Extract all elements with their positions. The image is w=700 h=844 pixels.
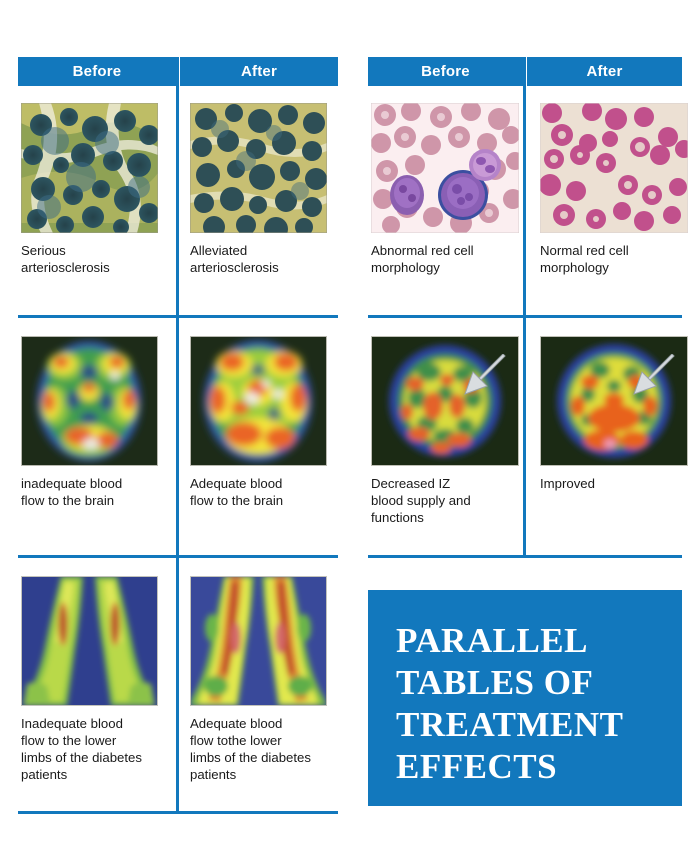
left-r2-before-caption: inadequate blood flow to the brain: [21, 475, 166, 509]
right-r1-before-caption: Abnormal red cell morphology: [371, 242, 516, 276]
left-r3-before-cell: Inadequate blood flow to the lower limbs…: [18, 576, 169, 783]
title-block: PARALLEL TABLES OF TREATMENT EFFECTS: [368, 590, 682, 806]
right-table-rule-1: [368, 315, 682, 318]
left-r2-before-cell: inadequate blood flow to the brain: [18, 336, 169, 509]
arteriosclerosis-histology-before-image: [21, 103, 158, 233]
leg-thermography-after-image: [190, 576, 327, 706]
left-table-row-2: inadequate blood flow to the brain: [18, 336, 338, 509]
right-table-row-2: Decreased IZ blood supply and functions: [368, 336, 682, 526]
spect-scan-improved-wrapper: [540, 336, 688, 466]
right-header-before: Before: [368, 57, 523, 86]
left-r1-after-caption: Alleviated arteriosclerosis: [190, 242, 335, 276]
left-table-row-1: Serious arteriosclerosis: [18, 103, 338, 276]
annotation-arrow-icon: [461, 354, 507, 398]
right-header-after: After: [527, 57, 682, 86]
left-r1-before-caption: Serious arteriosclerosis: [21, 242, 166, 276]
left-r2-after-caption: Adequate blood flow to the brain: [190, 475, 335, 509]
left-table-rule-1: [18, 315, 338, 318]
brain-perfusion-scan-after-image: [190, 336, 327, 466]
brain-perfusion-scan-before-image: [21, 336, 158, 466]
blood-smear-normal-image: [540, 103, 688, 233]
left-comparison-table: Before After: [18, 0, 338, 844]
left-table-rule-3: [18, 811, 338, 814]
arteriosclerosis-histology-after-image: [190, 103, 327, 233]
poster-title: PARALLEL TABLES OF TREATMENT EFFECTS: [396, 620, 682, 788]
right-r2-after-cell: Improved: [519, 336, 688, 526]
right-r1-before-cell: Abnormal red cell morphology: [368, 103, 519, 276]
right-r2-before-cell: Decreased IZ blood supply and functions: [368, 336, 519, 526]
left-r3-after-cell: Adequate blood flow tothe lower limbs of…: [169, 576, 338, 783]
left-r2-after-cell: Adequate blood flow to the brain: [169, 336, 338, 509]
right-table-rule-2: [368, 555, 682, 558]
left-r1-before-cell: Serious arteriosclerosis: [18, 103, 169, 276]
left-table-row-3: Inadequate blood flow to the lower limbs…: [18, 576, 338, 783]
spect-scan-decreased-wrapper: [371, 336, 519, 466]
left-header-after: After: [180, 57, 338, 86]
left-r3-after-caption: Adequate blood flow tothe lower limbs of…: [190, 715, 335, 783]
blood-smear-abnormal-image: [371, 103, 519, 233]
right-r2-after-caption: Improved: [540, 475, 685, 492]
right-r1-after-caption: Normal red cell morphology: [540, 242, 685, 276]
right-table-row-1: Abnormal red cell morphology: [368, 103, 682, 276]
right-r1-after-cell: Normal red cell morphology: [519, 103, 688, 276]
left-table-rule-2: [18, 555, 338, 558]
annotation-arrow-icon: [630, 354, 676, 398]
leg-thermography-before-image: [21, 576, 158, 706]
left-header-before: Before: [18, 57, 176, 86]
left-r3-before-caption: Inadequate blood flow to the lower limbs…: [21, 715, 166, 783]
right-r2-before-caption: Decreased IZ blood supply and functions: [371, 475, 516, 526]
poster-root: Before After: [0, 0, 700, 844]
left-r1-after-cell: Alleviated arteriosclerosis: [169, 103, 338, 276]
